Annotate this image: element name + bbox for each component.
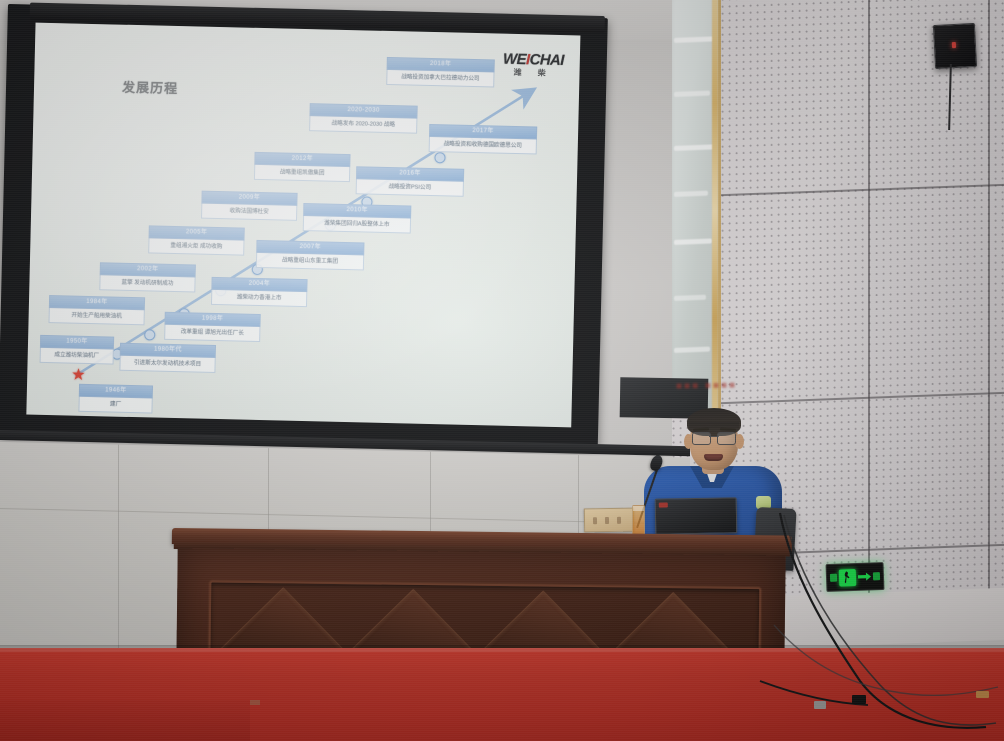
timeline-arrow: [26, 23, 580, 428]
timeline-card: 2005年 重组湘火炬 成功收购: [148, 225, 245, 255]
speaker-led-icon: [952, 42, 956, 48]
timeline-card: 2020-2030 战略发布 2020-2030 战略: [309, 103, 418, 134]
carpet-step: [0, 700, 250, 741]
timeline-card: 2007年 战略重组山东重工集团: [256, 240, 365, 271]
presenter-ear-right: [735, 434, 744, 449]
logo-wordmark-part2: CHAI: [529, 51, 564, 69]
timeline-card: 2016年 战略投资PSI公司: [356, 166, 465, 197]
timeline-card: 1950年 成立潍坊柴油机厂: [40, 335, 115, 365]
timeline-card: 1946年 建厂: [78, 384, 153, 414]
presenter-mouth: [704, 454, 723, 461]
laptop: [655, 497, 738, 534]
screen-glare: [26, 23, 580, 428]
timeline-card: 1984年 开始生产船用柴油机: [48, 295, 145, 325]
gold-trim-edge: [712, 0, 718, 426]
logo-accent-icon: I: [526, 51, 530, 68]
background-banner-text: ■■■ ■■■■: [676, 379, 796, 392]
wall-speaker: [933, 23, 977, 69]
timeline-card: 2004年 潍柴动力香港上市: [211, 277, 308, 307]
floor-cables: [740, 505, 1004, 741]
slide-title: 发展历程: [122, 77, 178, 97]
tea-glass: [632, 505, 645, 535]
timeline-card: 2017年 战略投资和收购德国欧德思公司: [429, 124, 538, 155]
timeline-card: 2002年 蓝擎 发动机研制成功: [99, 262, 196, 292]
logo-wordmark-part1: WE: [503, 51, 526, 69]
weichai-logo: WEICHAI 潍 柴: [503, 52, 564, 78]
logo-chinese: 潍 柴: [503, 69, 564, 78]
projection-screen: 发展历程 WEICHAI 潍 柴 ★: [0, 4, 608, 448]
screen-surface: 发展历程 WEICHAI 潍 柴 ★: [26, 23, 580, 428]
nameplate: [584, 508, 634, 533]
slide-content: 发展历程 WEICHAI 潍 柴 ★: [26, 23, 580, 428]
timeline-card: 1980年代 引进斯太尔发动机技术项目: [119, 343, 216, 373]
screenshot-root: 发展历程 WEICHAI 潍 柴 ★: [0, 0, 1004, 741]
eyeglasses-icon: [692, 432, 736, 443]
timeline-card: 2009年 收购法国博杜安: [201, 191, 298, 221]
timeline-card: 2012年 战略重组凯傲集团: [254, 152, 351, 182]
timeline-card: 1998年 改革重组 谭旭光出任厂长: [164, 312, 261, 342]
timeline-card: 2018年 战略投资加拿大巴拉德动力公司: [386, 57, 495, 88]
timeline-card: 2010年 潍柴集团回归A股整体上市: [303, 203, 412, 234]
